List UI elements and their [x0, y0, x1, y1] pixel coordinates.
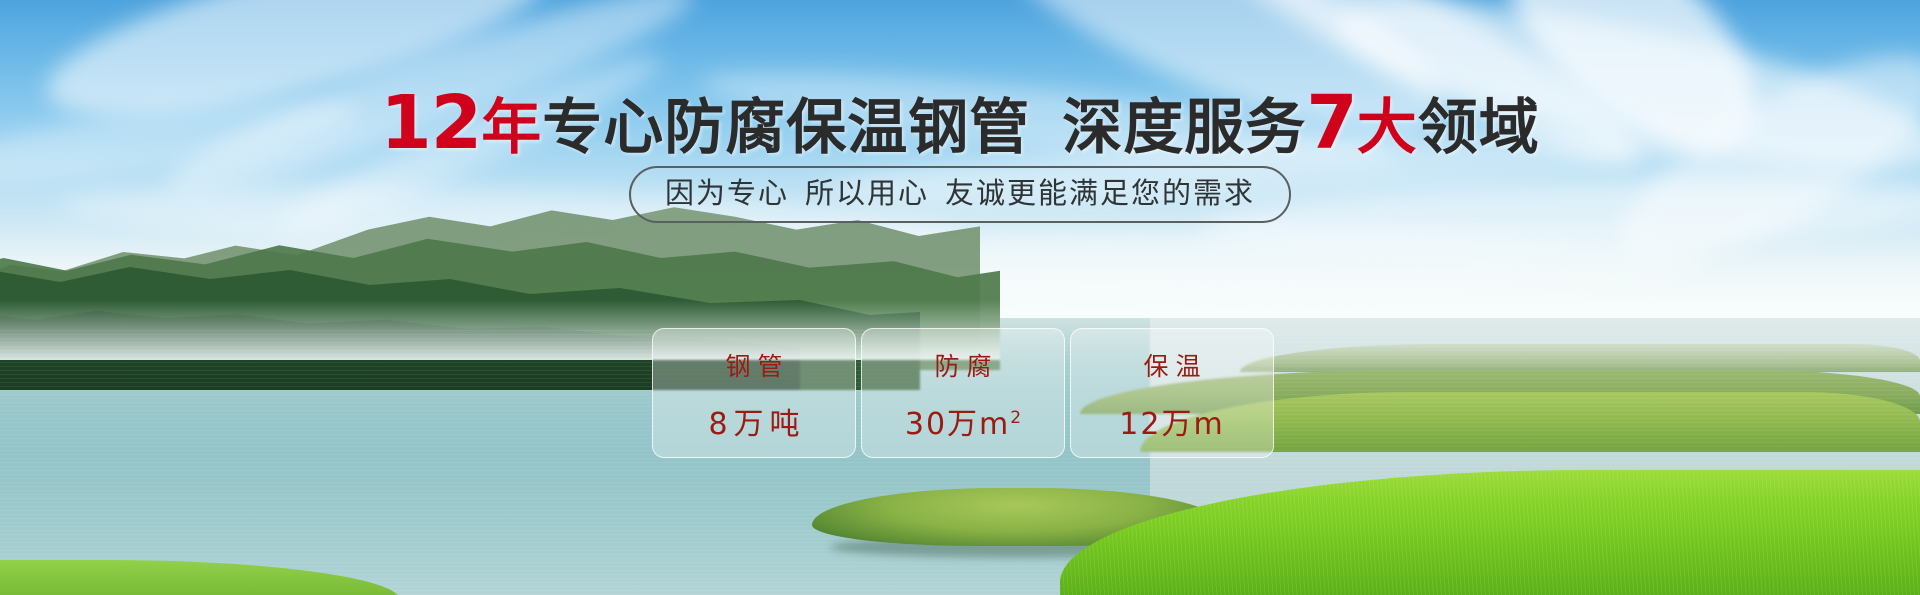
stat-card-anticorrosion[interactable]: 防腐 30万m2	[861, 328, 1065, 458]
stat-card-value-main: 30万m	[905, 407, 1010, 442]
stat-card-label: 保温	[1136, 347, 1207, 383]
headline-highlight-unit: 大	[1357, 93, 1418, 163]
stat-card-value-superscript: 2	[1010, 408, 1021, 428]
stat-card-steel-pipe[interactable]: 钢管 8万吨	[652, 328, 856, 458]
headline: 12年专心防腐保温钢管深度服务7大领域	[0, 86, 1920, 160]
subtitle-part-1: 因为专心	[665, 176, 789, 210]
headline-years-unit: 年	[481, 93, 542, 163]
headline-highlight-number: 7	[1306, 80, 1357, 166]
headline-phrase-1: 专心防腐保温钢管	[542, 93, 1030, 163]
headline-phrase-2: 深度服务	[1062, 93, 1306, 163]
stat-card-group: 钢管 8万吨 防腐 30万m2 保温 12万m	[652, 328, 1276, 458]
stat-card-value: 12万m	[1119, 399, 1224, 443]
stat-card-value: 30万m2	[905, 399, 1021, 443]
headline-years-number: 12	[380, 80, 481, 166]
stat-card-value-main: 8万吨	[708, 407, 805, 442]
stat-card-label: 钢管	[718, 347, 789, 383]
stat-card-value-main: 12万m	[1119, 407, 1224, 442]
stat-card-label: 防腐	[927, 347, 998, 383]
headline-phrase-3: 领域	[1418, 93, 1540, 163]
promo-banner: 12年专心防腐保温钢管深度服务7大领域 因为专心所以用心友诚更能满足您的需求 钢…	[0, 0, 1920, 595]
subtitle-pill: 因为专心所以用心友诚更能满足您的需求	[629, 166, 1291, 223]
subtitle-part-3: 友诚更能满足您的需求	[945, 176, 1255, 210]
subtitle-container: 因为专心所以用心友诚更能满足您的需求	[0, 166, 1920, 223]
stat-card-value: 8万吨	[702, 399, 805, 443]
subtitle-part-2: 所以用心	[805, 176, 929, 210]
stat-card-insulation[interactable]: 保温 12万m	[1070, 328, 1274, 458]
